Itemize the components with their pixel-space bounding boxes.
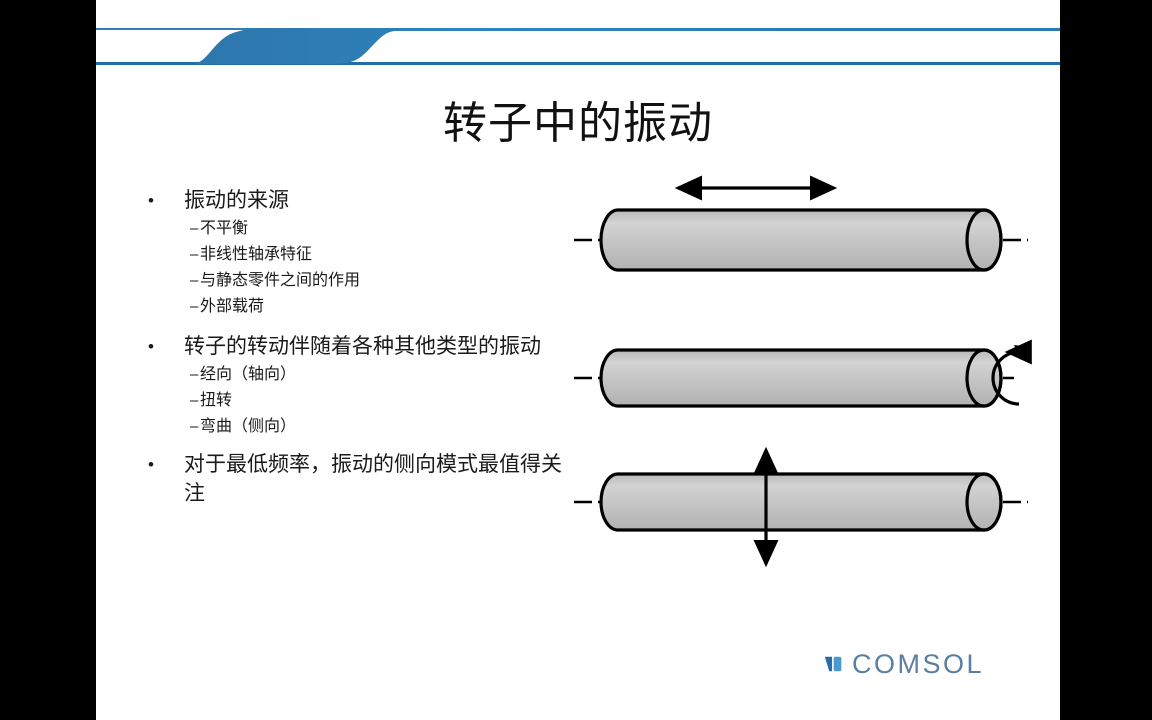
bullet-marker-dot: • xyxy=(140,186,184,215)
bullet-subtext: 外部载荷 xyxy=(190,294,570,320)
bullet-item-level1: • 对于最低频率，振动的侧向模式最值得关注 xyxy=(140,450,570,508)
bullet-item-level1: • 振动的来源 xyxy=(140,186,570,215)
bullet-subtext: 经向（轴向） xyxy=(190,362,570,388)
bullet-item-level2: – 非线性轴承特征 xyxy=(140,242,570,268)
bullet-item-level2: – 外部载荷 xyxy=(140,294,570,320)
bullet-list: • 振动的来源 – 不平衡 – 非线性轴承特征 – 与静态零件之间的作用 – xyxy=(140,186,570,510)
rotor-cylinder xyxy=(601,474,1001,530)
bullet-marker-dash: – xyxy=(140,362,190,388)
axial-vibration-diagram xyxy=(566,168,1036,288)
bullet-group: • 对于最低频率，振动的侧向模式最值得关注 xyxy=(140,450,570,508)
bullet-marker-dash: – xyxy=(140,414,190,440)
bullet-subtext: 弯曲（侧向） xyxy=(190,414,570,440)
bullet-group: • 转子的转动伴随着各种其他类型的振动 – 经向（轴向） – 扭转 – 弯曲（侧… xyxy=(140,332,570,440)
page-title: 转子中的振动 xyxy=(96,96,1060,152)
rotor-cylinder xyxy=(601,350,1001,406)
comsol-mark-icon xyxy=(824,653,845,675)
bullet-marker-dash: – xyxy=(140,388,190,414)
bullet-text: 对于最低频率，振动的侧向模式最值得关注 xyxy=(184,450,570,508)
bullet-item-level1: • 转子的转动伴随着各种其他类型的振动 xyxy=(140,332,570,361)
bullet-item-level2: – 经向（轴向） xyxy=(140,362,570,388)
lateral-vibration-diagram xyxy=(566,440,1036,575)
bullet-item-level2: – 不平衡 xyxy=(140,216,570,242)
bullet-marker-dot: • xyxy=(140,450,184,479)
letterbox-right xyxy=(1060,0,1152,720)
bullet-marker-dash: – xyxy=(140,294,190,320)
bullet-item-level2: – 弯曲（侧向） xyxy=(140,414,570,440)
slide-canvas: 转子中的振动 • 振动的来源 – 不平衡 – 非线性轴承特征 – xyxy=(96,0,1060,720)
bullet-subtext: 与静态零件之间的作用 xyxy=(190,268,570,294)
header-swoosh-shape xyxy=(96,26,1060,68)
bullet-marker-dash: – xyxy=(140,242,190,268)
rotor-cylinder xyxy=(601,210,1001,270)
bullet-marker-dash: – xyxy=(140,268,190,294)
letterbox-left xyxy=(0,0,96,720)
bullet-subtext: 不平衡 xyxy=(190,216,570,242)
bullet-subtext: 扭转 xyxy=(190,388,570,414)
screen: 转子中的振动 • 振动的来源 – 不平衡 – 非线性轴承特征 – xyxy=(0,0,1152,720)
comsol-logo: COMSOL xyxy=(824,648,984,680)
bullet-marker-dash: – xyxy=(140,216,190,242)
comsol-wordmark: COMSOL xyxy=(852,651,984,678)
bullet-item-level2: – 与静态零件之间的作用 xyxy=(140,268,570,294)
bullet-subtext: 非线性轴承特征 xyxy=(190,242,570,268)
bullet-group: • 振动的来源 – 不平衡 – 非线性轴承特征 – 与静态零件之间的作用 – xyxy=(140,186,570,320)
bullet-item-level2: – 扭转 xyxy=(140,388,570,414)
bullet-marker-dot: • xyxy=(140,332,184,361)
bullet-text: 振动的来源 xyxy=(184,186,570,215)
bullet-text: 转子的转动伴随着各种其他类型的振动 xyxy=(184,332,570,361)
torsional-vibration-diagram xyxy=(566,330,1036,440)
